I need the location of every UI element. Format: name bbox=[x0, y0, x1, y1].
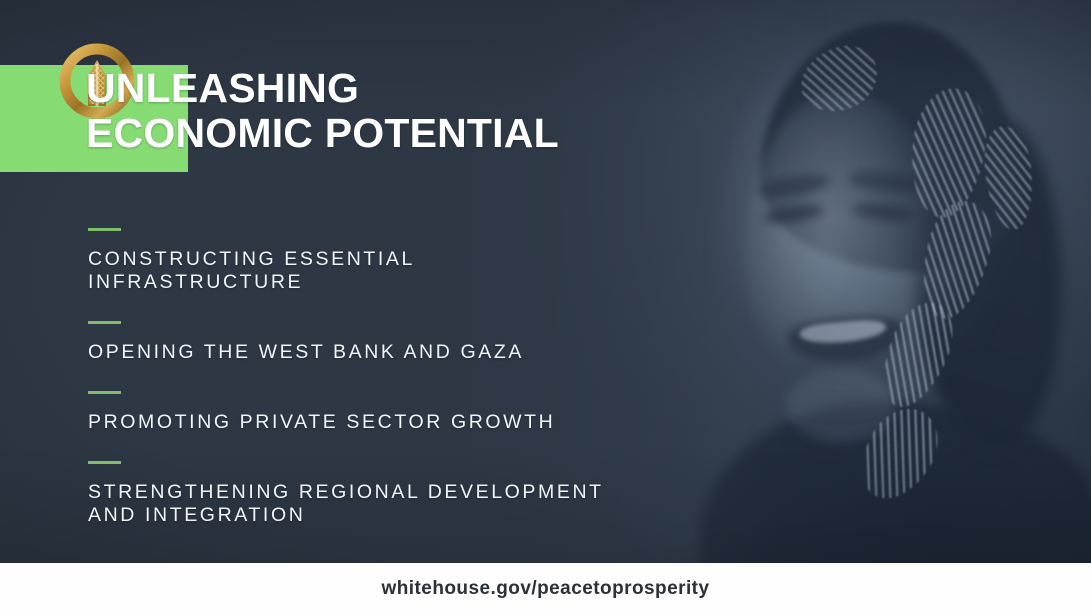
footer-url[interactable]: whitehouse.gov/peacetoprosperity bbox=[0, 578, 1091, 600]
dash-marker-icon bbox=[88, 391, 121, 394]
list-item-label: OPENING THE WEST BANK AND GAZA bbox=[88, 341, 688, 364]
list-item-label: PROMOTING PRIVATE SECTOR GROWTH bbox=[88, 411, 688, 434]
list-item-label: CONSTRUCTING ESSENTIAL INFRASTRUCTURE bbox=[88, 248, 688, 294]
list-item: CONSTRUCTING ESSENTIAL INFRASTRUCTURE bbox=[88, 228, 688, 294]
list-item: OPENING THE WEST BANK AND GAZA bbox=[88, 321, 688, 364]
dash-marker-icon bbox=[88, 461, 121, 464]
list-item: PROMOTING PRIVATE SECTOR GROWTH bbox=[88, 391, 688, 434]
objectives-list: CONSTRUCTING ESSENTIAL INFRASTRUCTURE OP… bbox=[88, 228, 688, 527]
footer-bar: whitehouse.gov/peacetoprosperity bbox=[0, 563, 1091, 615]
slide-title-line-2: ECONOMIC POTENTIAL bbox=[86, 111, 846, 156]
dash-marker-icon bbox=[88, 228, 121, 231]
list-item-label: STRENGTHENING REGIONAL DEVELOPMENT AND I… bbox=[88, 481, 688, 527]
dash-marker-icon bbox=[88, 321, 121, 324]
slide-title: UNLEASHING ECONOMIC POTENTIAL bbox=[86, 66, 846, 156]
list-item: STRENGTHENING REGIONAL DEVELOPMENT AND I… bbox=[88, 461, 688, 527]
presentation-slide: UNLEASHING ECONOMIC POTENTIAL CONSTRUCTI… bbox=[0, 0, 1091, 615]
slide-title-line-1: UNLEASHING bbox=[86, 66, 846, 111]
